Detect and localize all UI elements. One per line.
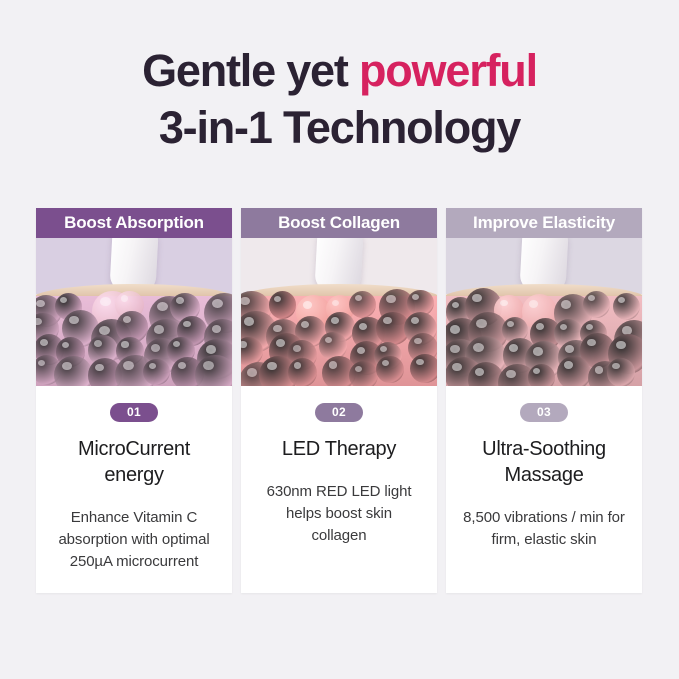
headline-line-1: Gentle yet powerful — [40, 42, 639, 99]
card-body: 02 LED Therapy 630nm RED LED light helps… — [241, 386, 437, 593]
card-banner-label: Boost Collagen — [241, 208, 437, 238]
card-banner-label: Boost Absorption — [36, 208, 232, 238]
step-badge: 03 — [520, 403, 568, 422]
card-body: 01 MicroCurrent energy Enhance Vitamin C… — [36, 386, 232, 593]
card-title: Ultra-Soothing Massage — [462, 436, 626, 488]
card-illustration — [36, 238, 232, 386]
skin-cell-bubble — [349, 361, 378, 386]
skin-cell-bubble — [143, 359, 170, 386]
dermis-cell-layer — [36, 296, 232, 386]
headline-line-2: 3-in-1 Technology — [40, 99, 639, 156]
skin-cell-bubble — [613, 293, 640, 320]
skin-cell-bubble — [195, 355, 232, 386]
feature-card-list: Boost Absorption 01 MicroCurrent energy … — [36, 208, 643, 593]
feature-card[interactable]: Boost Collagen 02 LED Therapy 630nm RED … — [241, 208, 437, 593]
dermis-cell-layer — [446, 296, 642, 386]
card-description: Enhance Vitamin C absorption with optima… — [52, 507, 216, 573]
skin-cell-bubble — [288, 358, 317, 386]
step-badge: 01 — [110, 403, 158, 422]
skin-cell-bubble — [349, 291, 376, 318]
dermis-cell-layer — [241, 296, 437, 386]
headline-plain-text: Gentle yet — [142, 45, 359, 96]
step-badge: 02 — [315, 403, 363, 422]
card-description: 8,500 vibrations / min for firm, elastic… — [462, 507, 626, 551]
feature-card[interactable]: Boost Absorption 01 MicroCurrent energy … — [36, 208, 232, 593]
card-illustration — [241, 238, 437, 386]
card-title: LED Therapy — [257, 436, 421, 462]
feature-card[interactable]: Improve Elasticity 03 Ultra-Soothing Mas… — [446, 208, 642, 593]
skin-cell-bubble — [269, 291, 297, 319]
card-title: MicroCurrent energy — [52, 436, 216, 488]
card-body: 03 Ultra-Soothing Massage 8,500 vibratio… — [446, 386, 642, 593]
card-description: 630nm RED LED light helps boost skin col… — [257, 481, 421, 547]
infographic-page: Gentle yet powerful 3-in-1 Technology Bo… — [0, 0, 679, 679]
page-title: Gentle yet powerful 3-in-1 Technology — [0, 0, 679, 156]
skin-cell-bubble — [528, 364, 555, 386]
skin-cell-bubble — [583, 291, 610, 318]
headline-accent-text: powerful — [359, 45, 537, 96]
card-illustration — [446, 238, 642, 386]
skin-cell-bubble — [557, 356, 591, 386]
skin-cell-bubble — [410, 354, 437, 383]
card-banner-label: Improve Elasticity — [446, 208, 642, 238]
skin-cell-bubble — [54, 356, 93, 386]
skin-cell-bubble — [376, 356, 403, 383]
skin-cell-bubble — [607, 358, 636, 386]
